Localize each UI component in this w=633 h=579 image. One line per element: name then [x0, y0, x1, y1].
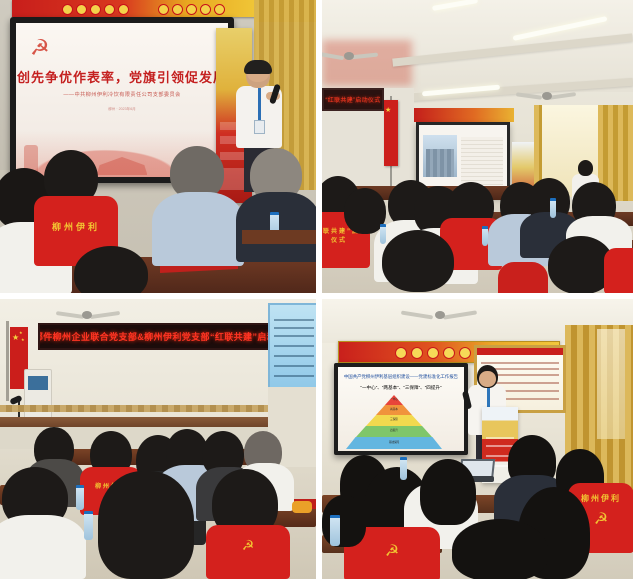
audience-head — [322, 495, 366, 547]
window — [597, 329, 625, 439]
photo-bottom-left: 广汽部件柳州企业联合党支部&柳州伊利党支部“红联共建”启动仪式 ★ ★ ★ — [0, 299, 316, 579]
photo-top-right: “红联共建”启动仪式 “红联共 — [322, 0, 633, 293]
audience-head — [98, 471, 194, 579]
photo-collage: ☭ 创先争优作表率，党旗引领促发展 ——中共柳州伊利冷饮有限责任公司支部委员会 … — [0, 0, 633, 579]
water-bottle-icon — [482, 226, 488, 246]
water-bottle-icon — [330, 515, 340, 546]
slide-date-top-left: 柳州 · 2023年6月 — [16, 107, 228, 112]
audience-red-vest: ☭ — [206, 525, 290, 579]
wall-banner-top-right — [414, 108, 514, 122]
led-banner-text: 广汽部件柳州企业联合党支部&柳州伊利党支部“红联共建”启动仪式 — [38, 330, 272, 343]
water-bottle-icon — [400, 457, 407, 480]
led-banner-text: “红联共建”启动仪式 — [326, 95, 381, 104]
water-bottle-icon — [76, 485, 84, 510]
chinese-national-flag-icon — [384, 100, 398, 166]
projection-screen-bottom-right: 中国共产党柳州伊利基层组织建设——党建标准化工作报告 “一中心”、“两基本”、“… — [338, 367, 464, 451]
yellow-item — [292, 501, 312, 513]
slide-keywords: “一中心”、“两基本”、“三保障”、“四提升” — [342, 385, 460, 391]
water-bottle-icon — [550, 198, 556, 218]
ceiling-fan-icon — [60, 309, 118, 319]
audience-head — [452, 519, 548, 579]
pyramid-diagram: 一中心 两基本 三保障 四提升 基础保障 — [346, 395, 442, 449]
projection-screen-frame: 中国共产党柳州伊利基层组织建设——党建标准化工作报告 “一中心”、“两基本”、“… — [334, 363, 468, 455]
blue-info-poster-icon — [268, 303, 316, 391]
pyramid-level-4: 四提升 — [356, 426, 432, 437]
pyramid-level-1: 一中心 — [385, 395, 403, 405]
slide-title-bottom-right: 中国共产党柳州伊利基层组织建设——党建标准化工作报告 — [342, 374, 460, 380]
slide-title-top-left: 创先争优作表率，党旗引领促发展 — [16, 67, 228, 86]
ceiling-fan-icon — [407, 309, 477, 321]
led-banner-bottom-left: 广汽部件柳州企业联合党支部&柳州伊利党支部“红联共建”启动仪式 — [38, 323, 272, 350]
photo-bottom-right: 中国共产党柳州伊利基层组织建设——党建标准化工作报告 “一中心”、“两基本”、“… — [322, 299, 633, 579]
audience-shirt — [152, 192, 244, 266]
scene-top-right: “红联共建”启动仪式 “红联共 — [322, 0, 633, 293]
slide-subtitle-top-left: ——中共柳州伊利冷饮有限责任公司支部委员会 — [16, 91, 228, 98]
led-banner-top-right: “红联共建”启动仪式 — [322, 88, 384, 111]
water-bottle-icon — [380, 224, 386, 244]
pyramid-level-3: 三保障 — [366, 415, 422, 426]
red-cap — [498, 262, 548, 293]
party-hammer-sickle-icon: ☭ — [30, 37, 56, 59]
chair-back — [242, 230, 316, 244]
wall-banner-top-left — [12, 0, 256, 17]
wall-trim — [0, 405, 268, 412]
slide-building-photo — [423, 135, 457, 177]
audience-shirt — [0, 515, 86, 579]
ceiling-fan-icon — [322, 50, 378, 62]
pyramid-level-2: 两基本 — [376, 405, 412, 415]
flag-pole — [6, 321, 9, 401]
pyramid-level-5: 基础保障 — [346, 437, 442, 449]
slide-data-table — [461, 137, 503, 185]
audience-head — [420, 459, 476, 525]
ceiling-fan-icon — [520, 90, 576, 102]
audience-head — [74, 246, 148, 293]
audience-head — [382, 230, 454, 292]
scene-top-left: ☭ 创先争优作表率，党旗引领促发展 ——中共柳州伊利冷饮有限责任公司支部委员会 … — [0, 0, 316, 293]
scene-bottom-right: 中国共产党柳州伊利基层组织建设——党建标准化工作报告 “一中心”、“两基本”、“… — [322, 299, 633, 579]
water-bottle-icon — [84, 511, 93, 540]
scene-bottom-left: 广汽部件柳州企业联合党支部&柳州伊利党支部“红联共建”启动仪式 ★ ★ ★ — [0, 299, 316, 579]
photo-top-left: ☭ 创先争优作表率，党旗引领促发展 ——中共柳州伊利冷饮有限责任公司支部委员会 … — [0, 0, 316, 293]
audience-red-vest — [604, 248, 633, 293]
